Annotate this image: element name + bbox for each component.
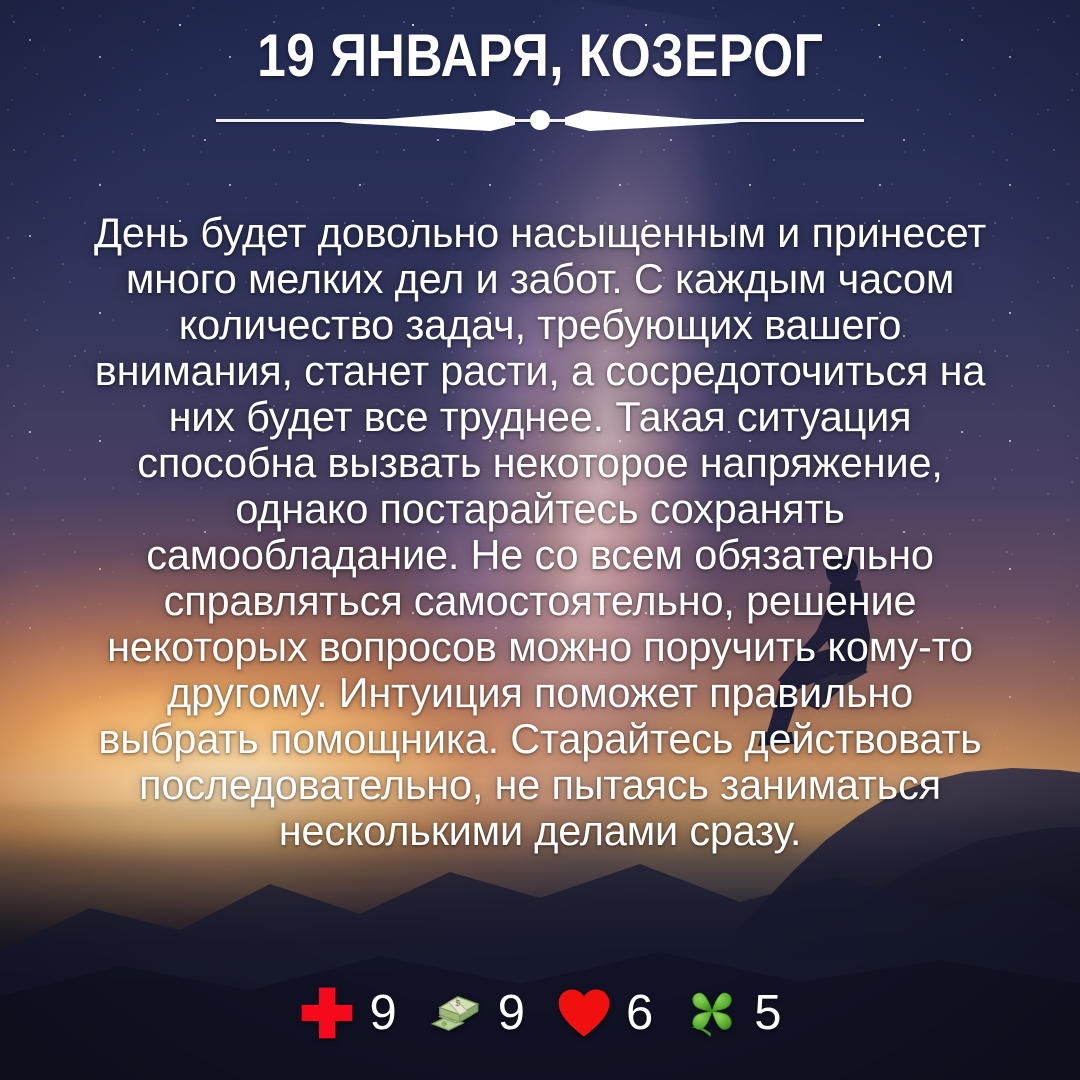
four-leaf-clover-luck-icon [683, 984, 741, 1042]
page-title: 19 ЯНВАРЯ, КОЗЕРОГ [257, 26, 823, 86]
rating-luck: 5 [683, 984, 781, 1042]
money-banknotes-icon: $ [427, 984, 485, 1042]
ornament-divider [216, 102, 864, 132]
horoscope-card: 19 ЯНВАРЯ, КОЗЕРОГ День будет довольно н… [0, 0, 1080, 1080]
horoscope-text: День будет довольно насыщенным и принесе… [90, 210, 990, 854]
rating-money: $ 9 [427, 984, 525, 1042]
rating-money-value: 9 [498, 989, 525, 1038]
rating-luck-value: 5 [754, 989, 781, 1038]
rating-health-value: 9 [369, 989, 396, 1038]
red-cross-health-icon [298, 984, 356, 1042]
rating-health: 9 [298, 984, 396, 1042]
red-heart-love-icon [555, 984, 613, 1042]
card-content: 19 ЯНВАРЯ, КОЗЕРОГ День будет довольно н… [0, 0, 1080, 1080]
rating-love-value: 6 [626, 989, 653, 1038]
divider-center-dot-icon [530, 110, 550, 130]
svg-text:$: $ [455, 999, 460, 1008]
rating-love: 6 [555, 984, 653, 1042]
ratings-row: 9 [0, 984, 1080, 1042]
